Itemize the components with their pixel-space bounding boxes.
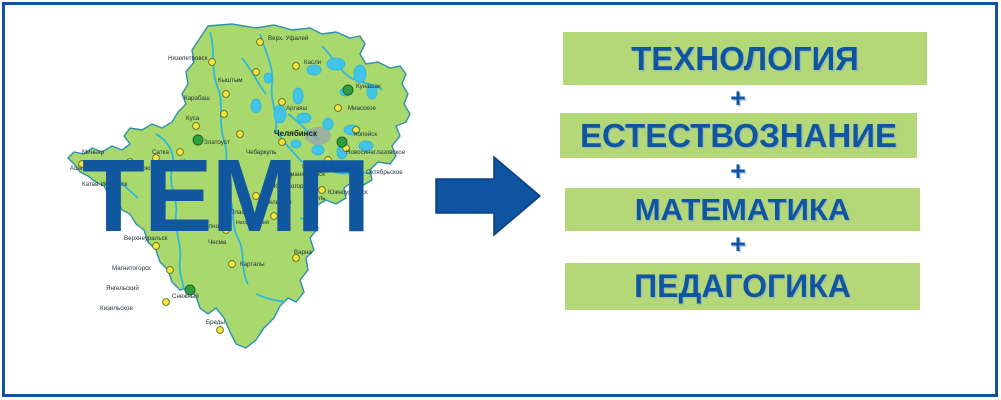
right-arrow-icon <box>434 155 542 237</box>
svg-text:Бреды: Бреды <box>206 319 225 326</box>
poster-canvas: Верх. Уфалей Нязепетровск Кыштым Касли К… <box>0 0 1001 400</box>
right-arrow-svg <box>434 155 542 237</box>
svg-text:Кизильское: Кизильское <box>100 305 133 312</box>
svg-text:Кыштым: Кыштым <box>218 77 243 84</box>
subject-band-natural-science: ЕСТЕСТВОЗНАНИЕ <box>560 113 917 158</box>
svg-text:Кунашак: Кунашак <box>356 83 381 90</box>
svg-text:Куса: Куса <box>186 115 200 122</box>
svg-text:Нязепетровск: Нязепетровск <box>168 55 208 62</box>
svg-text:Магнитогорск: Магнитогорск <box>112 265 151 272</box>
subject-label-mathematics: МАТЕМАТИКА <box>635 192 850 228</box>
svg-text:Касли: Касли <box>304 59 322 66</box>
subject-label-technology: ТЕХНОЛОГИЯ <box>631 40 859 78</box>
subject-band-pedagogy: ПЕДАГОГИКА <box>565 263 920 310</box>
subject-label-pedagogy: ПЕДАГОГИКА <box>634 268 851 305</box>
plus-separator-2: + <box>718 156 758 187</box>
svg-text:Челябинск: Челябинск <box>274 129 318 138</box>
subject-band-mathematics: МАТЕМАТИКА <box>565 188 920 231</box>
svg-text:Миасское: Миасское <box>348 105 376 112</box>
svg-text:Копейск: Копейск <box>354 131 377 138</box>
plus-separator-3: + <box>718 229 758 260</box>
map-panel: Верх. Уфалей Нязепетровск Кыштым Касли К… <box>60 18 430 378</box>
temp-wordmark: ТЕМП <box>82 146 412 246</box>
svg-text:Аргаяш: Аргаяш <box>286 105 307 112</box>
svg-text:Карталы: Карталы <box>240 261 265 268</box>
svg-text:Снежный: Снежный <box>172 293 199 300</box>
formula-stack: ТЕХНОЛОГИЯ + ЕСТЕСТВОЗНАНИЕ + МАТЕМАТИКА… <box>548 26 948 326</box>
subject-label-natural-science: ЕСТЕСТВОЗНАНИЕ <box>580 117 897 155</box>
plus-separator-1: + <box>718 83 758 114</box>
subject-band-technology: ТЕХНОЛОГИЯ <box>563 32 927 85</box>
svg-text:Карабаш: Карабаш <box>184 95 210 102</box>
svg-text:Верх. Уфалей: Верх. Уфалей <box>268 35 309 42</box>
svg-text:Янгельский: Янгельский <box>106 285 139 292</box>
